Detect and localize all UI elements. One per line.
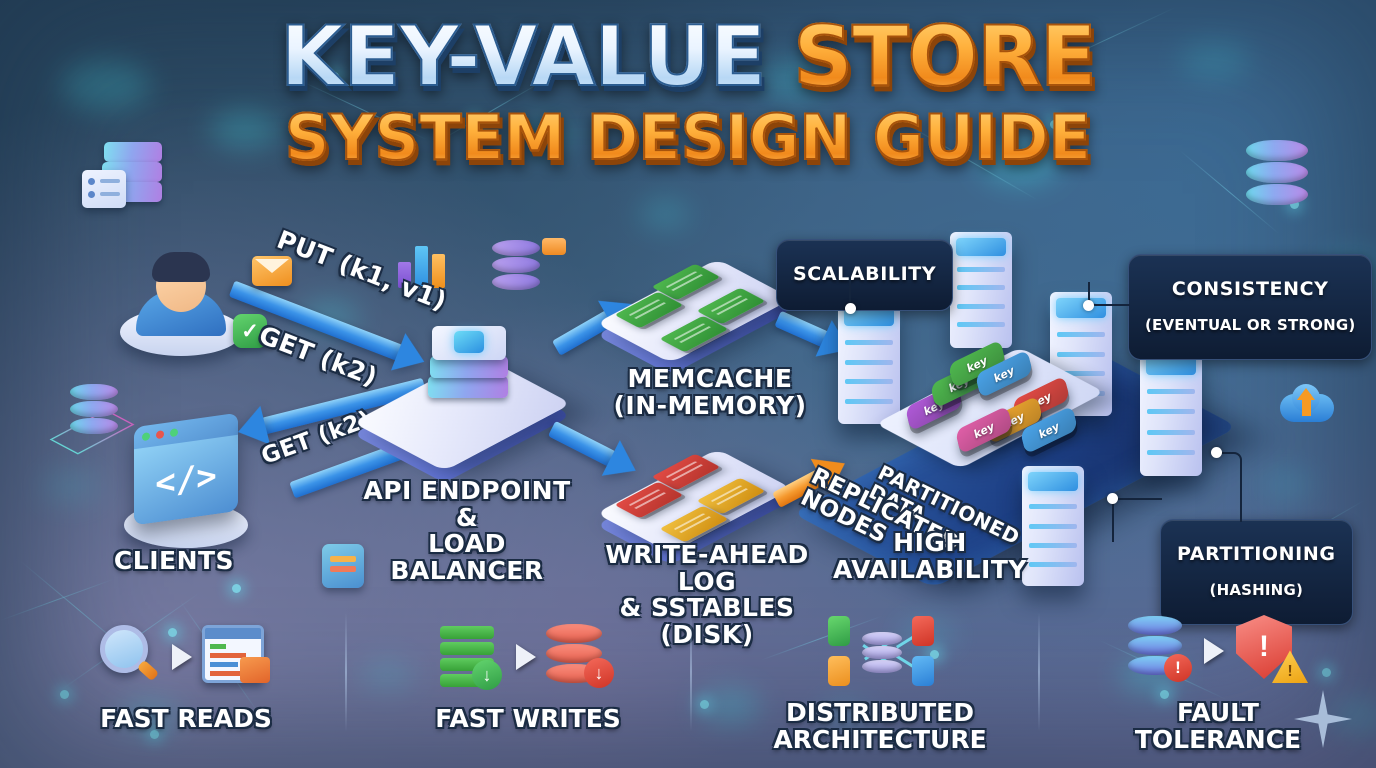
feature-fast-writes[interactable]: ↓ ↓ FAST WRITES xyxy=(388,614,668,733)
feature-distributed-architecture[interactable]: DISTRIBUTED ARCHITECTURE xyxy=(730,608,1030,753)
feature-divider-3 xyxy=(1038,612,1040,732)
feature-distributed-architecture-label: DISTRIBUTED ARCHITECTURE xyxy=(730,700,1030,753)
node-network-icon xyxy=(820,614,940,688)
cloud-upload-icon xyxy=(1276,382,1338,430)
badge-scalability-line1: SCALABILITY xyxy=(793,264,936,285)
database-alert-icon: ! xyxy=(1128,616,1194,686)
partitioning-connector-right xyxy=(1216,452,1242,522)
partitioning-connector-left xyxy=(1112,498,1162,542)
envelope-icon xyxy=(252,256,292,286)
feature-fast-reads[interactable]: FAST READS xyxy=(46,614,326,733)
badge-scalability[interactable]: SCALABILITY xyxy=(776,239,953,311)
api-endpoint-label: API ENDPOINT & LOAD BALANCER xyxy=(352,478,582,584)
clients-label: CLIENTS xyxy=(84,548,264,575)
infographic-canvas: KEY-VALUE STORE SYSTEM DESIGN GUIDE xyxy=(0,0,1376,768)
title-line-1: KEY-VALUE STORE xyxy=(0,18,1376,97)
title-store: STORE xyxy=(793,8,1096,105)
memcache-label: MEMCACHE (IN-MEMORY) xyxy=(600,366,820,419)
badge-consistency-line1: CONSISTENCY xyxy=(1145,279,1355,300)
document-window-icon xyxy=(202,625,274,689)
scalability-connector-dot xyxy=(845,303,856,314)
feature-divider-1 xyxy=(345,612,347,732)
arrow-right-icon xyxy=(172,644,192,670)
scalability-connector xyxy=(849,276,851,306)
server-stack-icon xyxy=(82,138,168,216)
consistency-connector-dot xyxy=(1083,300,1094,311)
code-window-icon: </> xyxy=(110,420,260,550)
partitioning-connector-dot-right xyxy=(1211,447,1222,458)
database-cylinder-icon xyxy=(1246,140,1308,210)
badge-partitioning-line1: PARTITIONING xyxy=(1177,544,1336,565)
cluster-rack-top xyxy=(950,232,1012,348)
title-block: KEY-VALUE STORE SYSTEM DESIGN GUIDE xyxy=(0,18,1376,174)
feature-fault-tolerance[interactable]: ! ! ! FAULT TOLERANCE xyxy=(1078,608,1358,753)
badge-consistency-line2: (EVENTUAL OR STRONG) xyxy=(1145,317,1355,333)
arrow-right-icon xyxy=(1204,638,1224,664)
feature-fast-writes-label: FAST WRITES xyxy=(388,706,668,733)
title-line-2: SYSTEM DESIGN GUIDE xyxy=(0,101,1376,174)
feature-fast-reads-label: FAST READS xyxy=(46,706,326,733)
database-chat-icon xyxy=(488,236,566,302)
red-database-icon: ↓ xyxy=(546,624,616,690)
cluster-rack-right-lower xyxy=(1140,348,1202,476)
consistency-connector xyxy=(1088,282,1130,306)
partitioning-connector-dot-left xyxy=(1107,493,1118,504)
badge-consistency[interactable]: CONSISTENCY (EVENTUAL OR STRONG) xyxy=(1128,254,1372,360)
badge-partitioning-line2: (HASHING) xyxy=(1177,582,1336,598)
title-key-value: KEY-VALUE xyxy=(280,8,765,105)
green-server-icon: ↓ xyxy=(440,624,506,690)
magnifier-icon xyxy=(98,625,162,689)
feature-fault-tolerance-label: FAULT TOLERANCE xyxy=(1078,700,1358,753)
feature-divider-2 xyxy=(690,612,692,732)
api-server-stack-icon xyxy=(424,322,514,408)
shield-warning-icon: ! ! xyxy=(1234,615,1308,687)
high-availability-label: HIGH AVAILABILITY xyxy=(830,530,1030,583)
arrow-right-icon xyxy=(516,644,536,670)
